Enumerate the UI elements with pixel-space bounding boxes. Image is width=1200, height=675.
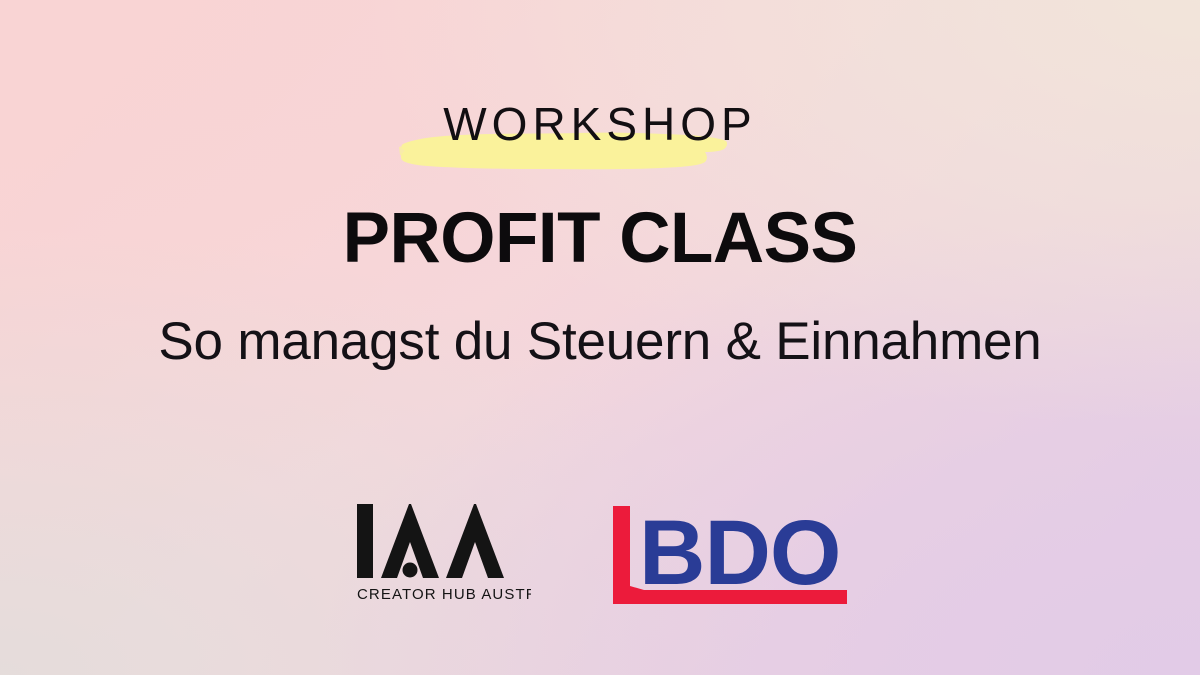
- bdo-wordmark-icon: BDO: [639, 502, 840, 604]
- logo-row: CREATOR HUB AUSTRIA BDO: [0, 492, 1200, 612]
- iaa-wordmark-icon: [357, 504, 504, 578]
- iaa-tagline: CREATOR HUB AUSTRIA: [357, 586, 531, 603]
- bdo-red-bar-icon: [613, 506, 630, 590]
- bdo-logo: BDO: [611, 500, 849, 604]
- eyebrow-inner: WORKSHOP: [433, 101, 766, 147]
- workshop-title-slide: WORKSHOP PROFIT CLASS So managst du Steu…: [0, 0, 1200, 675]
- eyebrow-container: WORKSHOP: [0, 88, 1200, 160]
- page-subtitle: So managst du Steuern & Einnahmen: [0, 313, 1200, 371]
- iaa-creator-hub-austria-logo: CREATOR HUB AUSTRIA: [351, 498, 531, 606]
- eyebrow-label: WORKSHOP: [443, 101, 756, 147]
- bdo-wordmark-text: BDO: [639, 502, 840, 604]
- page-title: PROFIT CLASS: [0, 203, 1200, 274]
